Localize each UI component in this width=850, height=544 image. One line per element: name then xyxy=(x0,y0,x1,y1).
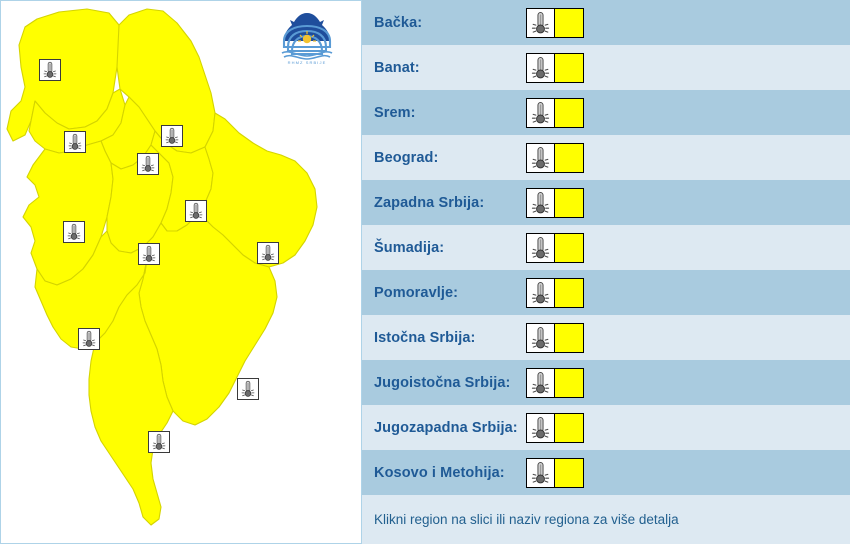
warning-level-swatch xyxy=(555,99,583,127)
region-label[interactable]: Pomoravlje: xyxy=(374,285,526,301)
map-marker-thermometer-heat-icon[interactable] xyxy=(64,131,86,153)
region-row[interactable]: Istočna Srbija: xyxy=(362,315,850,360)
region-row[interactable]: Jugozapadna Srbija: xyxy=(362,405,850,450)
thermometer-heat-icon xyxy=(527,54,555,82)
warning-level-icon[interactable] xyxy=(526,143,584,173)
warning-map-page: RHMZ SRBIJE Bačka:Banat:Srem:Beograd:Zap… xyxy=(0,0,850,544)
region-label[interactable]: Beograd: xyxy=(374,150,526,166)
warning-level-icon[interactable] xyxy=(526,8,584,38)
region-row[interactable]: Šumadija: xyxy=(362,225,850,270)
region-label[interactable]: Srem: xyxy=(374,105,526,121)
serbia-map-svg[interactable] xyxy=(1,1,361,543)
map-marker-thermometer-heat-icon[interactable] xyxy=(138,243,160,265)
warning-level-swatch xyxy=(555,324,583,352)
region-row[interactable]: Srem: xyxy=(362,90,850,135)
region-label[interactable]: Jugoistočna Srbija: xyxy=(374,375,526,391)
warning-level-swatch xyxy=(555,279,583,307)
thermometer-heat-icon xyxy=(527,99,555,127)
thermometer-heat-icon xyxy=(527,189,555,217)
warning-level-swatch xyxy=(555,234,583,262)
map-marker-thermometer-heat-icon[interactable] xyxy=(185,200,207,222)
thermometer-heat-icon xyxy=(527,279,555,307)
warning-level-swatch xyxy=(555,144,583,172)
footer-row: Klikni region na slici ili naziv regiona… xyxy=(362,495,850,544)
map-marker-thermometer-heat-icon[interactable] xyxy=(137,153,159,175)
warning-level-swatch xyxy=(555,369,583,397)
map-marker-thermometer-heat-icon[interactable] xyxy=(161,125,183,147)
warning-level-swatch xyxy=(555,9,583,37)
region-label[interactable]: Jugozapadna Srbija: xyxy=(374,420,526,436)
footer-hint-text: Klikni region na slici ili naziv regiona… xyxy=(374,512,679,527)
region-label[interactable]: Kosovo i Metohija: xyxy=(374,465,526,481)
map-marker-thermometer-heat-icon[interactable] xyxy=(257,242,279,264)
map-marker-thermometer-heat-icon[interactable] xyxy=(148,431,170,453)
region-label[interactable]: Banat: xyxy=(374,60,526,76)
warning-level-icon[interactable] xyxy=(526,188,584,218)
region-list-panel: Bačka:Banat:Srem:Beograd:Zapadna Srbija:… xyxy=(362,0,850,544)
region-row[interactable]: Zapadna Srbija: xyxy=(362,180,850,225)
map-panel: RHMZ SRBIJE xyxy=(0,0,362,544)
warning-level-icon[interactable] xyxy=(526,278,584,308)
region-label[interactable]: Bačka: xyxy=(374,15,526,31)
warning-level-swatch xyxy=(555,459,583,487)
warning-level-icon[interactable] xyxy=(526,233,584,263)
thermometer-heat-icon xyxy=(527,459,555,487)
region-row[interactable]: Kosovo i Metohija: xyxy=(362,450,850,495)
thermometer-heat-icon xyxy=(527,144,555,172)
rhmz-serbia-logo: RHMZ SRBIJE xyxy=(275,9,339,67)
warning-level-icon[interactable] xyxy=(526,53,584,83)
thermometer-heat-icon xyxy=(527,414,555,442)
warning-level-icon[interactable] xyxy=(526,458,584,488)
warning-level-icon[interactable] xyxy=(526,368,584,398)
warning-level-icon[interactable] xyxy=(526,323,584,353)
region-rows: Bačka:Banat:Srem:Beograd:Zapadna Srbija:… xyxy=(362,0,850,495)
region-label[interactable]: Istočna Srbija: xyxy=(374,330,526,346)
thermometer-heat-icon xyxy=(527,324,555,352)
map-marker-thermometer-heat-icon[interactable] xyxy=(39,59,61,81)
warning-level-icon[interactable] xyxy=(526,413,584,443)
region-label[interactable]: Zapadna Srbija: xyxy=(374,195,526,211)
thermometer-heat-icon xyxy=(527,369,555,397)
region-row[interactable]: Banat: xyxy=(362,45,850,90)
region-row[interactable]: Bačka: xyxy=(362,0,850,45)
region-label[interactable]: Šumadija: xyxy=(374,240,526,256)
region-row[interactable]: Pomoravlje: xyxy=(362,270,850,315)
warning-level-swatch xyxy=(555,54,583,82)
map-marker-thermometer-heat-icon[interactable] xyxy=(63,221,85,243)
region-row[interactable]: Jugoistočna Srbija: xyxy=(362,360,850,405)
thermometer-heat-icon xyxy=(527,9,555,37)
warning-level-swatch xyxy=(555,414,583,442)
logo-caption: RHMZ SRBIJE xyxy=(288,60,327,65)
map-marker-thermometer-heat-icon[interactable] xyxy=(78,328,100,350)
warning-level-icon[interactable] xyxy=(526,98,584,128)
map-marker-thermometer-heat-icon[interactable] xyxy=(237,378,259,400)
thermometer-heat-icon xyxy=(527,234,555,262)
warning-level-swatch xyxy=(555,189,583,217)
region-row[interactable]: Beograd: xyxy=(362,135,850,180)
